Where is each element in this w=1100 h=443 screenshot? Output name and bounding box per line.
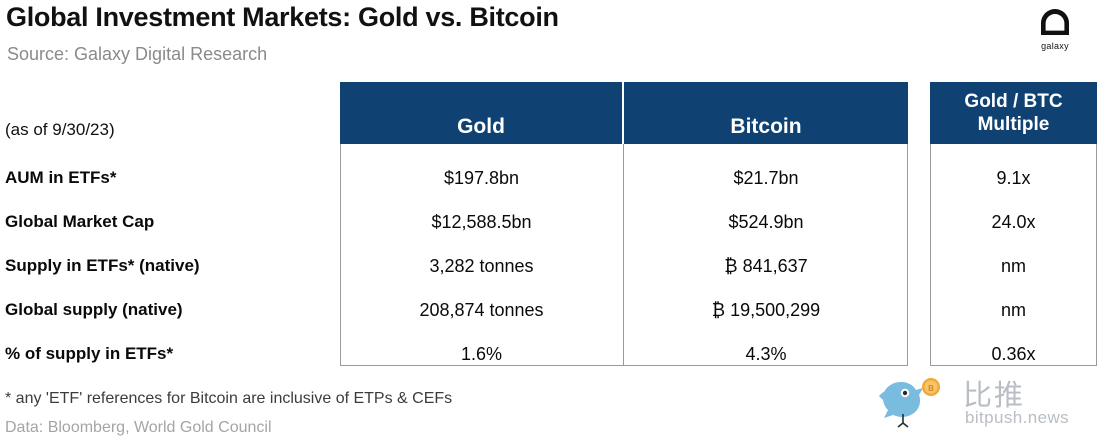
- svg-text:B: B: [928, 384, 934, 393]
- page-subtitle: Source: Galaxy Digital Research: [7, 44, 267, 65]
- column-header-multiple: Gold / BTC Multiple: [930, 82, 1097, 144]
- cell-gold-global-supply: 208,874 tonnes: [340, 300, 623, 321]
- row-label-market-cap: Global Market Cap: [5, 212, 154, 232]
- cell-bitcoin-supply-etfs: ₿ 841,637: [624, 256, 908, 277]
- cell-gold-supply-etfs: 3,282 tonnes: [340, 256, 623, 277]
- cell-multiple-market-cap: 24.0x: [930, 212, 1097, 233]
- column-header-multiple-line2: Multiple: [978, 114, 1050, 135]
- cell-multiple-pct-supply: 0.36x: [930, 344, 1097, 365]
- galaxy-logo: galaxy: [1026, 6, 1084, 51]
- cell-gold-market-cap: $12,588.5bn: [340, 212, 623, 233]
- bird-with-coin-icon: B: [875, 374, 959, 430]
- footnote-data-source: Data: Bloomberg, World Gold Council: [5, 419, 272, 437]
- page-title: Global Investment Markets: Gold vs. Bitc…: [6, 2, 559, 33]
- column-header-bitcoin: Bitcoin: [624, 82, 908, 144]
- cell-bitcoin-pct-supply: 4.3%: [624, 344, 908, 365]
- cell-multiple-supply-etfs: nm: [930, 256, 1097, 277]
- footnote-asterisk: * any 'ETF' references for Bitcoin are i…: [5, 390, 452, 408]
- row-label-supply-etfs: Supply in ETFs* (native): [5, 256, 200, 276]
- bitpush-watermark: B 比推 bitpush.news: [875, 372, 1095, 438]
- watermark-url: bitpush.news: [965, 408, 1069, 428]
- cell-bitcoin-global-supply: ₿ 19,500,299: [624, 300, 908, 321]
- cell-multiple-global-supply: nm: [930, 300, 1097, 321]
- cell-multiple-aum: 9.1x: [930, 168, 1097, 189]
- galaxy-wordmark: galaxy: [1026, 41, 1084, 51]
- as-of-date-label: (as of 9/30/23): [5, 120, 115, 140]
- cell-gold-pct-supply: 1.6%: [340, 344, 623, 365]
- cell-bitcoin-market-cap: $524.9bn: [624, 212, 908, 233]
- row-label-global-supply: Global supply (native): [5, 300, 183, 320]
- column-header-multiple-line1: Gold / BTC: [964, 91, 1062, 112]
- table-header-row: Gold Bitcoin: [340, 82, 908, 144]
- column-header-gold: Gold: [340, 82, 624, 144]
- galaxy-arch-icon: [1038, 6, 1072, 40]
- cell-bitcoin-aum: $21.7bn: [624, 168, 908, 189]
- row-label-aum: AUM in ETFs*: [5, 168, 116, 188]
- cell-gold-aum: $197.8bn: [340, 168, 623, 189]
- row-label-pct-supply: % of supply in ETFs*: [5, 344, 173, 364]
